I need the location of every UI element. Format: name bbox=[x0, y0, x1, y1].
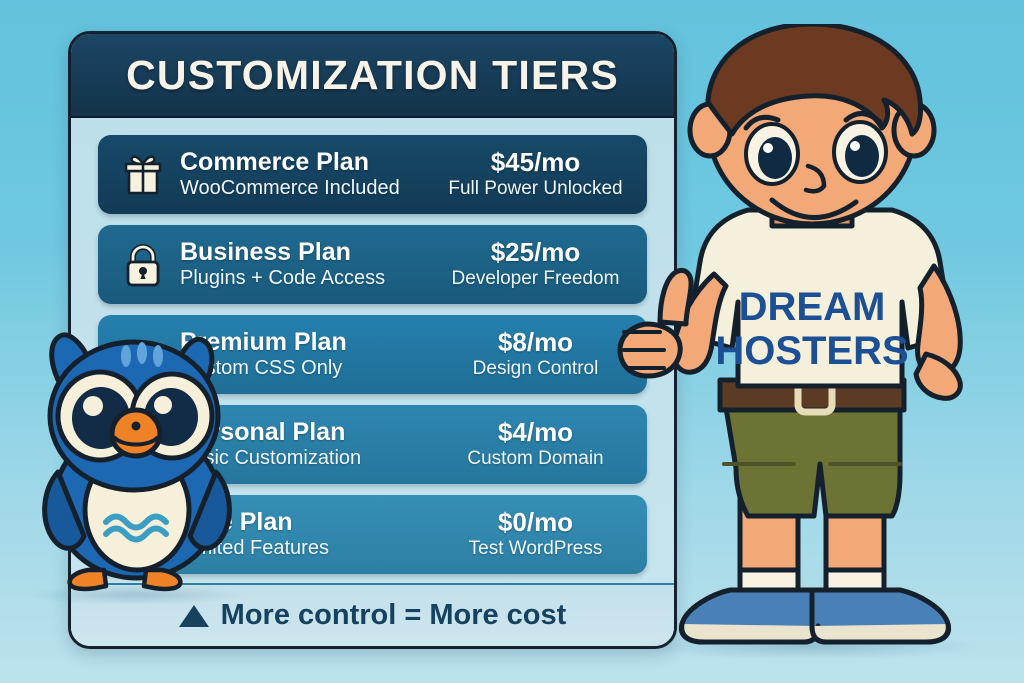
tier-note: Custom Domain bbox=[432, 447, 639, 470]
tier-row-business[interactable]: Business Plan Plugins + Code Access $25/… bbox=[98, 225, 647, 304]
tier-note: Developer Freedom bbox=[432, 267, 639, 290]
boy-character: DREAM HOSTERS bbox=[612, 24, 1012, 660]
tier-price: $0/mo bbox=[432, 509, 639, 536]
tier-row-commerce[interactable]: Commerce Plan WooCommerce Included $45/m… bbox=[98, 135, 647, 214]
lock-icon bbox=[112, 242, 174, 288]
tier-name: Business Plan bbox=[180, 239, 432, 265]
shirt-text-line1: DREAM bbox=[739, 285, 886, 329]
page-title: CUSTOMIZATION TIERS bbox=[126, 52, 619, 99]
up-triangle-icon bbox=[179, 605, 209, 627]
tier-name: Commerce Plan bbox=[180, 149, 432, 175]
tier-subtitle: WooCommerce Included bbox=[180, 176, 432, 200]
gift-icon bbox=[112, 153, 174, 197]
tier-note: Full Power Unlocked bbox=[432, 177, 639, 200]
tier-info: Business Plan Plugins + Code Access bbox=[174, 239, 432, 290]
tier-note: Design Control bbox=[432, 357, 639, 380]
blue-owl-mascot bbox=[30, 312, 245, 597]
tier-subtitle: Plugins + Code Access bbox=[180, 266, 432, 290]
footer-caption: More control = More cost bbox=[221, 599, 567, 632]
shirt-text-line2: HOSTERS bbox=[715, 329, 908, 373]
tier-price: $8/mo bbox=[432, 329, 639, 356]
tier-price: $4/mo bbox=[432, 419, 639, 446]
card-header: CUSTOMIZATION TIERS bbox=[71, 34, 674, 118]
tier-note: Test WordPress bbox=[432, 537, 639, 560]
tier-info: Commerce Plan WooCommerce Included bbox=[174, 149, 432, 200]
tier-price: $45/mo bbox=[432, 149, 639, 176]
tier-price: $25/mo bbox=[432, 239, 639, 266]
